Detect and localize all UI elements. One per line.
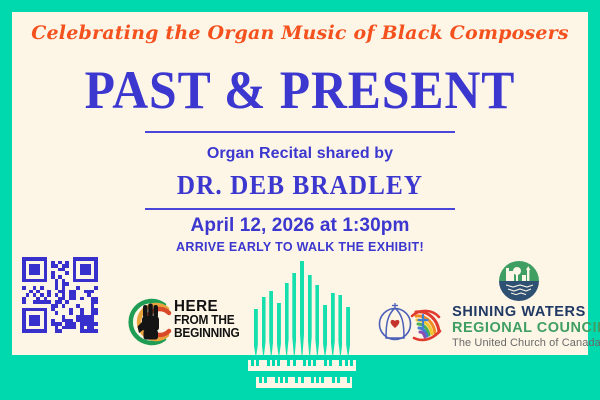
page-title: PAST & PRESENT bbox=[24, 62, 576, 118]
swrc-line-3: The United Church of Canada bbox=[452, 337, 586, 349]
poster-canvas: Celebrating the Organ Music of Black Com… bbox=[0, 0, 600, 400]
keyboard-black-key bbox=[293, 360, 296, 366]
swrc-line-1: SHINING WATERS bbox=[452, 304, 586, 320]
event-date-time: April 12, 2026 at 1:30pm bbox=[0, 215, 600, 237]
keyboard-black-key bbox=[339, 360, 342, 366]
keyboard-black-key bbox=[295, 377, 298, 383]
organ-pipes-graphic bbox=[252, 250, 352, 355]
organ-pipe bbox=[300, 261, 304, 355]
keyboard-black-key bbox=[337, 377, 340, 383]
united-church-rainbow-crest-icon bbox=[412, 311, 440, 340]
organ-pipe bbox=[285, 283, 289, 355]
organ-pipe bbox=[254, 309, 258, 355]
keyboard-black-key bbox=[301, 377, 304, 383]
raised-fist-icon bbox=[124, 296, 176, 348]
keyboard-black-key bbox=[350, 360, 353, 366]
keyboard-manual-upper bbox=[248, 360, 356, 371]
keyboard-black-key bbox=[316, 377, 319, 383]
keyboard-black-key bbox=[275, 377, 278, 383]
organ-pipe bbox=[346, 307, 350, 355]
organ-pipe bbox=[338, 295, 342, 355]
keyboard-black-key bbox=[345, 360, 348, 366]
keyboard-black-key bbox=[272, 360, 275, 366]
organ-pipe bbox=[292, 273, 296, 355]
keyboard-black-key bbox=[324, 360, 327, 366]
organ-pipe bbox=[315, 285, 319, 355]
hftb-line-1: HERE bbox=[174, 300, 240, 314]
organ-pipe bbox=[262, 297, 266, 355]
keyboard-black-key bbox=[259, 377, 262, 383]
keyboard-black-key bbox=[256, 360, 259, 366]
keyboard-black-key bbox=[251, 360, 254, 366]
swrc-line-2: REGIONAL COUNCIL bbox=[452, 320, 586, 336]
keyboard-black-key bbox=[285, 377, 288, 383]
performer-name: DR. DEB BRADLEY bbox=[21, 170, 579, 201]
keyboard-black-key bbox=[264, 377, 267, 383]
keyboard-black-key bbox=[321, 377, 324, 383]
keyboard-black-key bbox=[347, 377, 350, 383]
keyboard-black-key bbox=[311, 377, 314, 383]
keyboard-manual-lower bbox=[256, 377, 352, 388]
keyboard-black-key bbox=[329, 360, 332, 366]
recital-label: Organ Recital shared by bbox=[0, 145, 600, 163]
here-from-the-beginning-logo: HERE FROM THE BEGINNING bbox=[124, 292, 232, 352]
keyboard-black-key bbox=[313, 360, 316, 366]
keyboard-black-key bbox=[308, 360, 311, 366]
organ-keyboards-graphic bbox=[248, 360, 356, 392]
keyboard-black-key bbox=[303, 360, 306, 366]
qr-code[interactable] bbox=[22, 257, 98, 333]
divider-top bbox=[145, 131, 455, 133]
shining-waters-logo: SHINING WATERS REGIONAL COUNCIL The Unit… bbox=[452, 256, 586, 352]
keyboard-black-key bbox=[280, 377, 283, 383]
organ-pipe bbox=[269, 291, 273, 355]
church-organ-crest-icon bbox=[380, 303, 411, 340]
shining-waters-emblem-icon bbox=[496, 256, 542, 302]
keyboard-black-key bbox=[277, 360, 280, 366]
organ-pipe bbox=[331, 293, 335, 355]
united-church-crests bbox=[378, 298, 444, 348]
keyboard-black-key bbox=[287, 360, 290, 366]
divider-bottom bbox=[145, 208, 455, 210]
organ-pipe bbox=[308, 275, 312, 355]
keyboard-black-key bbox=[332, 377, 335, 383]
organ-pipe bbox=[323, 305, 327, 355]
here-from-the-beginning-text: HERE FROM THE BEGINNING bbox=[174, 300, 240, 341]
hftb-line-3: BEGINNING bbox=[174, 327, 240, 341]
hftb-line-2: FROM THE bbox=[174, 314, 240, 328]
organ-pipe bbox=[277, 303, 281, 355]
keyboard-black-key bbox=[267, 360, 270, 366]
tagline: Celebrating the Organ Music of Black Com… bbox=[0, 22, 600, 44]
